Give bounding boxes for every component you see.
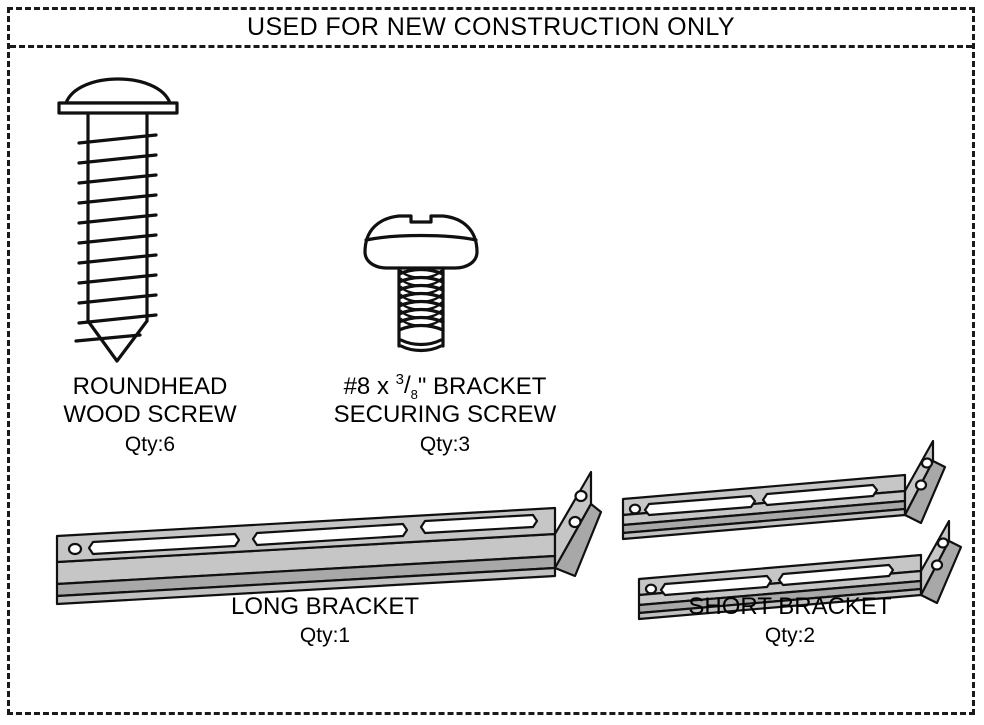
- wood-screw-icon: [48, 73, 248, 363]
- page-title: USED FOR NEW CONSTRUCTION ONLY: [247, 15, 735, 40]
- machine-screw-name-line1: #8 x 3/8" BRACKET: [290, 373, 600, 401]
- long-bracket-caption: LONG BRACKET Qty:1: [120, 593, 530, 649]
- machine-screw-caption: #8 x 3/8" BRACKET SECURING SCREW Qty:3: [290, 373, 600, 457]
- short-bracket-qty: Qty:2: [610, 624, 970, 649]
- fraction-three-eighths: 3/8: [396, 372, 418, 400]
- short-bracket-icon: [615, 453, 965, 603]
- fraction-numerator: 3: [396, 371, 404, 388]
- parts-sheet: USED FOR NEW CONSTRUCTION ONLY: [7, 7, 975, 715]
- short-bracket-1: [623, 441, 945, 539]
- machine-screw-name-line2: SECURING SCREW: [290, 401, 600, 429]
- long-bracket-name: LONG BRACKET: [120, 593, 530, 621]
- fraction-denominator: 8: [411, 387, 418, 402]
- short-bracket-illustration: [615, 453, 965, 603]
- wood-screw-illustration: [48, 73, 248, 363]
- machine-screw-illustration: [355, 208, 535, 358]
- machine-screw-name-prefix: #8 x: [344, 373, 396, 400]
- wood-screw-caption: ROUNDHEAD WOOD SCREW Qty:6: [30, 373, 270, 457]
- short-bracket-caption: SHORT BRACKET Qty:2: [610, 593, 970, 649]
- long-bracket-icon: [35, 468, 605, 588]
- wood-screw-name-line1: ROUNDHEAD: [30, 373, 270, 401]
- header-band: USED FOR NEW CONSTRUCTION ONLY: [10, 10, 972, 48]
- long-bracket-qty: Qty:1: [120, 624, 530, 649]
- machine-screw-qty: Qty:3: [290, 433, 600, 458]
- long-bracket-illustration: [35, 468, 605, 588]
- wood-screw-name-line2: WOOD SCREW: [30, 401, 270, 429]
- machine-screw-name-suffix: " BRACKET: [418, 373, 547, 400]
- parts-stage: ROUNDHEAD WOOD SCREW Qty:6 #8 x 3/8" BRA…: [10, 48, 972, 718]
- wood-screw-qty: Qty:6: [30, 433, 270, 458]
- short-bracket-name: SHORT BRACKET: [610, 593, 970, 621]
- machine-screw-icon: [355, 208, 535, 358]
